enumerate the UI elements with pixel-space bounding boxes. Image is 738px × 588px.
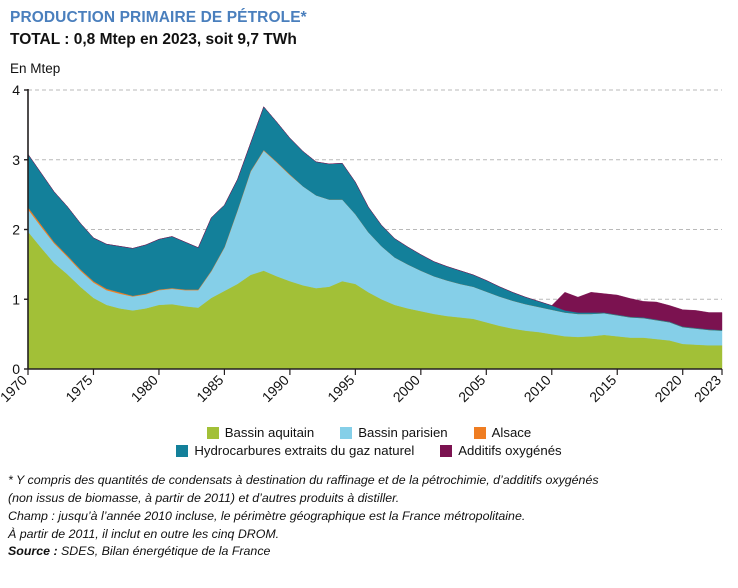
footnote-line-3: Champ : jusqu’à l’année 2010 incluse, le… xyxy=(8,508,730,526)
x-tick-label: 2020 xyxy=(651,372,684,405)
x-tick-label: 2010 xyxy=(521,372,554,405)
legend-row-2: Hydrocarbures extraits du gaz naturel Ad… xyxy=(10,444,728,457)
chart-area: 01234 1970197519801985199019952000200520… xyxy=(0,79,738,424)
legend-swatch-icon xyxy=(440,445,452,457)
page-title: PRODUCTION PRIMAIRE DE PÉTROLE* xyxy=(10,8,728,27)
y-tick-label: 1 xyxy=(12,291,20,307)
footnote-line-4: À partir de 2011, il inclut en outre les… xyxy=(8,526,730,544)
legend-item-hydrocarbures[interactable]: Hydrocarbures extraits du gaz naturel xyxy=(176,444,414,457)
x-tick-label: 2005 xyxy=(455,372,488,405)
chart-legend: Bassin aquitain Bassin parisien Alsace H… xyxy=(0,426,738,457)
legend-item-alsace[interactable]: Alsace xyxy=(474,426,532,439)
x-tick-label: 1980 xyxy=(128,372,161,405)
legend-item-bassin-aquitain[interactable]: Bassin aquitain xyxy=(207,426,314,439)
chart-header: PRODUCTION PRIMAIRE DE PÉTROLE* TOTAL : … xyxy=(0,0,738,77)
axis-unit-label: En Mtep xyxy=(10,61,728,77)
x-tick-label: 2023 xyxy=(691,372,724,405)
legend-label: Bassin aquitain xyxy=(225,426,314,439)
x-tick-label: 1995 xyxy=(324,372,357,405)
legend-item-bassin-parisien[interactable]: Bassin parisien xyxy=(340,426,447,439)
chart-footnotes: * Y compris des quantités de condensats … xyxy=(0,462,738,561)
legend-item-additifs-oxygenes[interactable]: Additifs oxygénés xyxy=(440,444,561,457)
series-areas xyxy=(28,107,722,369)
source-line: Source : SDES, Bilan énergétique de la F… xyxy=(8,543,730,561)
footnote-line-2: (non issus de biomasse, à partir de 2011… xyxy=(8,490,730,508)
legend-label: Alsace xyxy=(492,426,532,439)
legend-label: Bassin parisien xyxy=(358,426,447,439)
y-tick-label: 4 xyxy=(12,82,20,98)
y-axis-tick-labels: 01234 xyxy=(12,82,20,377)
x-tick-label: 2015 xyxy=(586,372,619,405)
x-tick-label: 1975 xyxy=(62,372,95,405)
legend-label: Additifs oxygénés xyxy=(458,444,561,457)
x-tick-label: 1985 xyxy=(193,372,226,405)
legend-swatch-icon xyxy=(207,427,219,439)
legend-label: Hydrocarbures extraits du gaz naturel xyxy=(194,444,414,457)
stacked-area-chart: 01234 1970197519801985199019952000200520… xyxy=(0,79,738,424)
y-tick-label: 3 xyxy=(12,152,20,168)
legend-swatch-icon xyxy=(176,445,188,457)
y-tick-label: 2 xyxy=(12,221,20,237)
x-axis-tick-labels: 1970197519801985199019952000200520102015… xyxy=(0,372,724,405)
legend-swatch-icon xyxy=(340,427,352,439)
x-tick-label: 1990 xyxy=(259,372,292,405)
x-tick-label: 1970 xyxy=(0,372,30,405)
footnote-line-1: * Y compris des quantités de condensats … xyxy=(8,472,730,490)
total-subtitle: TOTAL : 0,8 Mtep en 2023, soit 9,7 TWh xyxy=(10,30,728,49)
chart-page: PRODUCTION PRIMAIRE DE PÉTROLE* TOTAL : … xyxy=(0,0,738,588)
source-value: SDES, Bilan énergétique de la France xyxy=(58,544,271,558)
legend-swatch-icon xyxy=(474,427,486,439)
source-label: Source : xyxy=(8,544,58,558)
legend-row-1: Bassin aquitain Bassin parisien Alsace xyxy=(10,426,728,439)
x-tick-label: 2000 xyxy=(390,372,423,405)
